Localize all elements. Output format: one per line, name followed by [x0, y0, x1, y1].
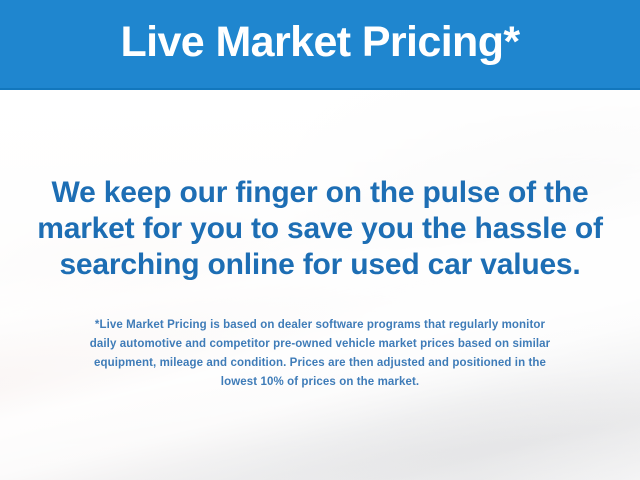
banner-title: Live Market Pricing*	[120, 21, 519, 67]
disclaimer-line-4: lowest 10% of prices on the market.	[28, 373, 612, 392]
headline-line-1: We keep our finger on the pulse of the	[20, 175, 620, 211]
headline-line-3: searching online for used car values.	[20, 247, 620, 283]
header-banner: Live Market Pricing*	[0, 0, 640, 90]
headline: We keep our finger on the pulse of the m…	[20, 175, 620, 283]
live-market-pricing-promo-card: Live Market Pricing* We keep our finger …	[0, 0, 640, 480]
disclaimer-line-2: daily automotive and competitor pre-owne…	[28, 335, 612, 354]
content-area: We keep our finger on the pulse of the m…	[0, 90, 640, 480]
disclaimer-line-3: equipment, mileage and condition. Prices…	[28, 354, 612, 373]
disclaimer-line-1: *Live Market Pricing is based on dealer …	[28, 316, 612, 335]
disclaimer-text: *Live Market Pricing is based on dealer …	[28, 316, 612, 392]
headline-line-2: market for you to save you the hassle of	[20, 211, 620, 247]
